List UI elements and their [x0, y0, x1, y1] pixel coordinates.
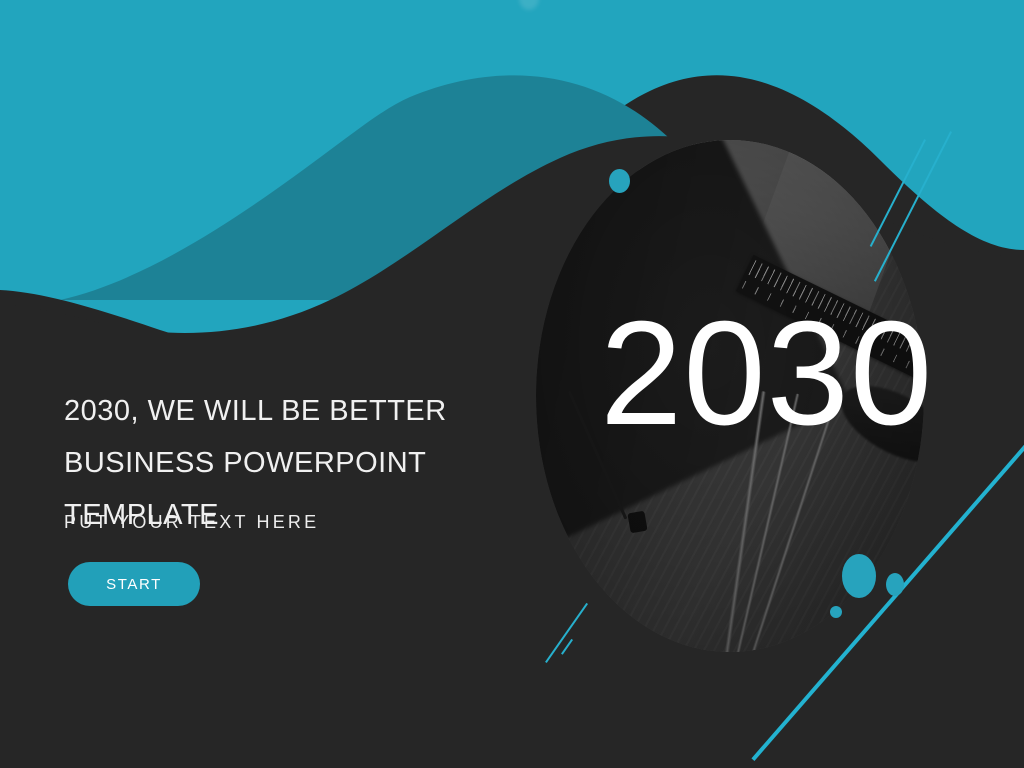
- slide-subheadline: PUT YOUR TEXT HERE: [64, 512, 319, 533]
- teal-dot-medium-icon: [886, 573, 904, 596]
- presentation-slide: 2030 2030, WE WILL BE BETTER BUSINESS PO…: [0, 0, 1024, 768]
- teal-dot-large-icon: [842, 554, 876, 598]
- teal-dot-oval-edge-icon: [609, 169, 630, 193]
- headline-line-1: 2030, WE WILL BE BETTER: [64, 385, 584, 437]
- start-button[interactable]: START: [68, 562, 200, 606]
- teal-dot-small-icon: [830, 606, 842, 618]
